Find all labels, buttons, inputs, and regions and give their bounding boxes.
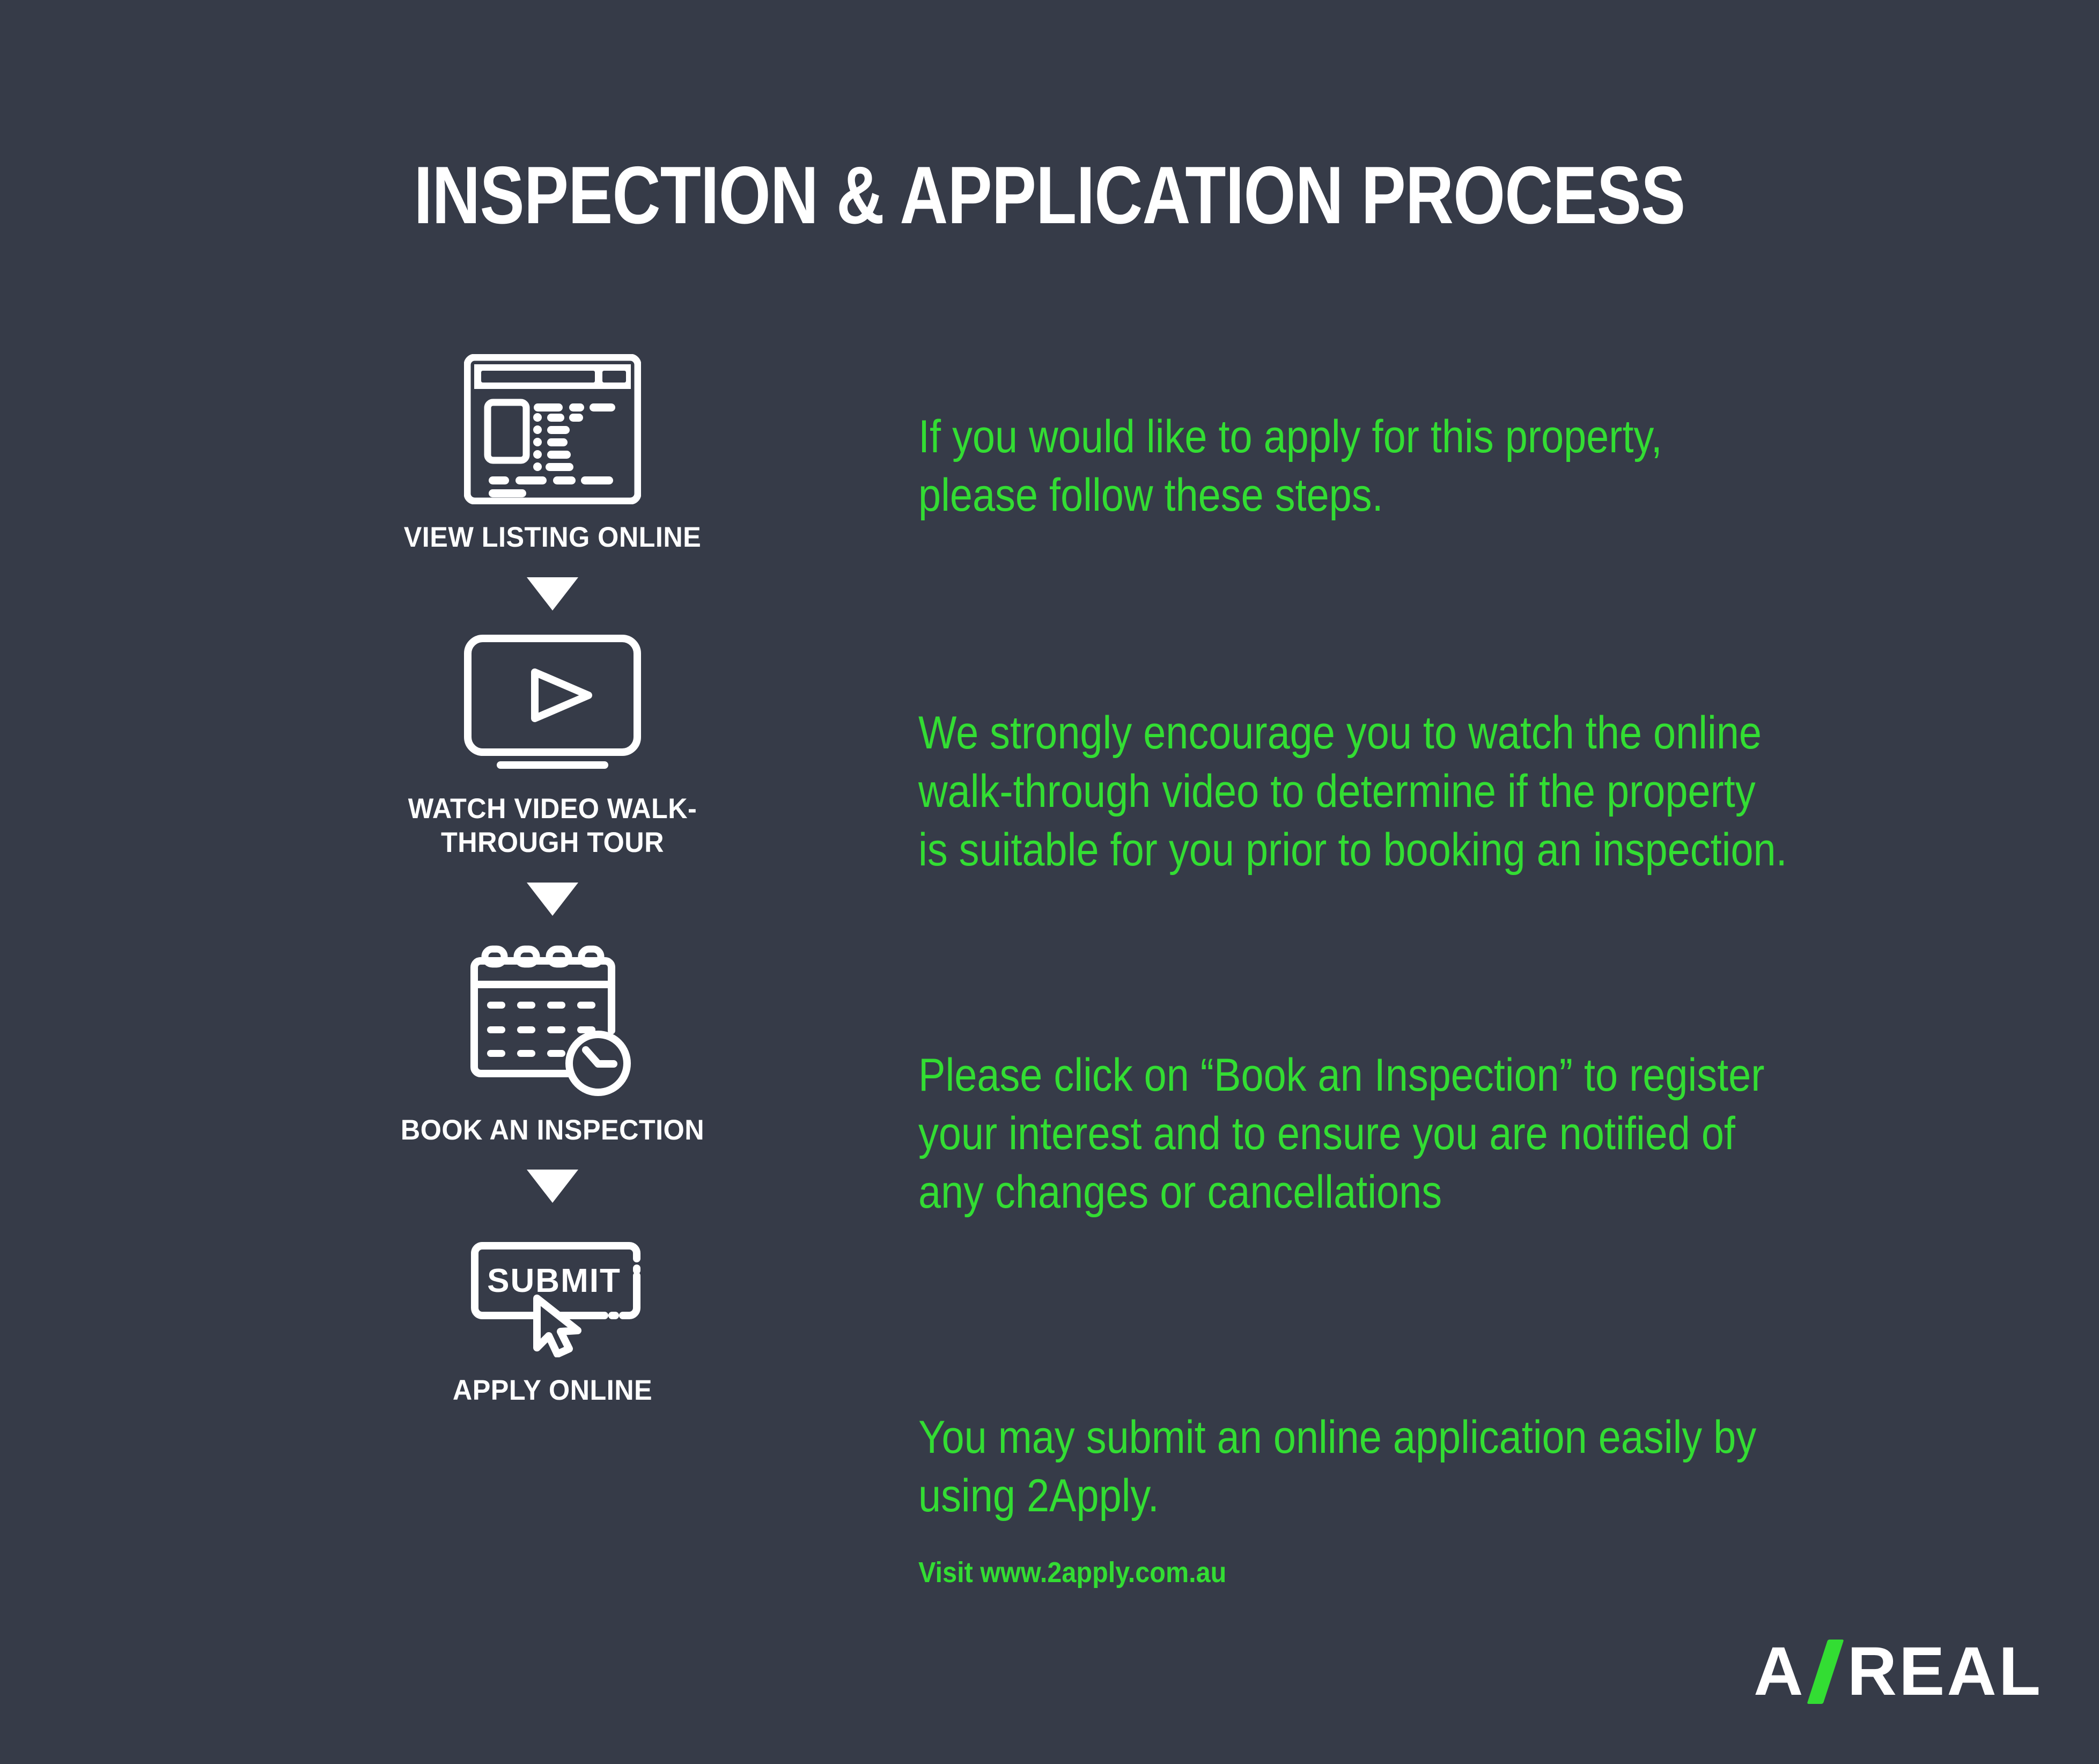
triangle-down-icon <box>354 883 751 916</box>
calendar-clock-icon <box>354 936 751 1097</box>
infographic-page: INSPECTION & APPLICATION PROCESS <box>0 0 2099 1764</box>
video-play-icon <box>354 631 751 776</box>
step-description-2: We strongly encourage you to watch the o… <box>918 704 1886 880</box>
brand-logo: A REAL <box>1754 1637 2043 1706</box>
flow-step-view-listing: VIEW LISTING ONLINE <box>354 354 751 555</box>
page-title: INSPECTION & APPLICATION PROCESS <box>189 153 1910 239</box>
flow-step-label: BOOK AN INSPECTION <box>364 1113 741 1148</box>
visit-url-link[interactable]: Visit www.2apply.com.au <box>918 1556 1226 1589</box>
process-flow: VIEW LISTING ONLINE WATCH VIDEO WALK-THR… <box>354 354 751 1408</box>
step-description-4: You may submit an online application eas… <box>918 1408 1862 1525</box>
flow-step-apply-online: SUBMIT APPLY ONLINE <box>354 1223 751 1408</box>
submit-icon-text: SUBMIT <box>487 1262 621 1299</box>
flow-step-book-inspection: BOOK AN INSPECTION <box>354 936 751 1148</box>
triangle-down-icon <box>354 577 751 611</box>
submit-button-cursor-icon: SUBMIT <box>354 1223 751 1357</box>
browser-listing-icon <box>354 354 751 504</box>
logo-letter-a: A <box>1754 1637 1805 1706</box>
logo-word-real: REAL <box>1847 1637 2043 1706</box>
logo-slash-icon <box>1807 1640 1844 1704</box>
flow-step-label: VIEW LISTING ONLINE <box>364 520 741 555</box>
triangle-down-icon <box>354 1170 751 1203</box>
step-description-1: If you would like to apply for this prop… <box>918 408 1862 525</box>
flow-step-watch-video: WATCH VIDEO WALK-THROUGH TOUR <box>354 631 751 860</box>
step-description-3: Please click on “Book an Inspection” to … <box>918 1046 1862 1222</box>
flow-step-label: WATCH VIDEO WALK-THROUGH TOUR <box>364 792 741 860</box>
flow-step-label: APPLY ONLINE <box>364 1373 741 1408</box>
